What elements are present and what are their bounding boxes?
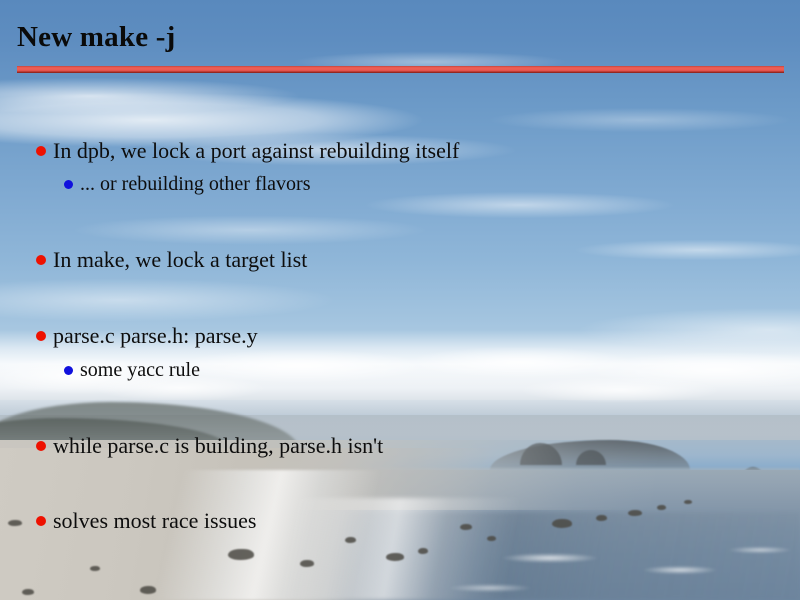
bullet-item: parse.c parse.h: parse.y bbox=[36, 323, 258, 348]
slide-content: New make -j In dpb, we lock a port again… bbox=[0, 0, 800, 600]
bullet-dot-icon bbox=[36, 146, 46, 156]
presentation-slide: New make -j In dpb, we lock a port again… bbox=[0, 0, 800, 600]
bullet-item: ... or rebuilding other flavors bbox=[64, 173, 311, 196]
bullet-item: solves most race issues bbox=[36, 508, 256, 533]
bullet-item: In make, we lock a target list bbox=[36, 247, 307, 272]
bullet-dot-icon bbox=[36, 441, 46, 451]
bullet-dot-icon bbox=[36, 255, 46, 265]
bullet-item: In dpb, we lock a port against rebuildin… bbox=[36, 138, 459, 163]
bullet-text: solves most race issues bbox=[53, 508, 256, 533]
bullet-text: In make, we lock a target list bbox=[53, 247, 307, 272]
sub-bullet-dot-icon bbox=[64, 180, 73, 189]
bullet-text: while parse.c is building, parse.h isn't bbox=[53, 433, 383, 458]
bullet-dot-icon bbox=[36, 331, 46, 341]
bullet-text: In dpb, we lock a port against rebuildin… bbox=[53, 138, 459, 163]
title-divider-rule bbox=[17, 66, 784, 73]
bullet-text: ... or rebuilding other flavors bbox=[80, 173, 311, 196]
sub-bullet-dot-icon bbox=[64, 366, 73, 375]
bullet-item: some yacc rule bbox=[64, 359, 200, 382]
bullet-dot-icon bbox=[36, 516, 46, 526]
bullet-item: while parse.c is building, parse.h isn't bbox=[36, 433, 383, 458]
page-title: New make -j bbox=[17, 20, 175, 55]
bullet-text: some yacc rule bbox=[80, 359, 200, 382]
bullet-text: parse.c parse.h: parse.y bbox=[53, 323, 258, 348]
